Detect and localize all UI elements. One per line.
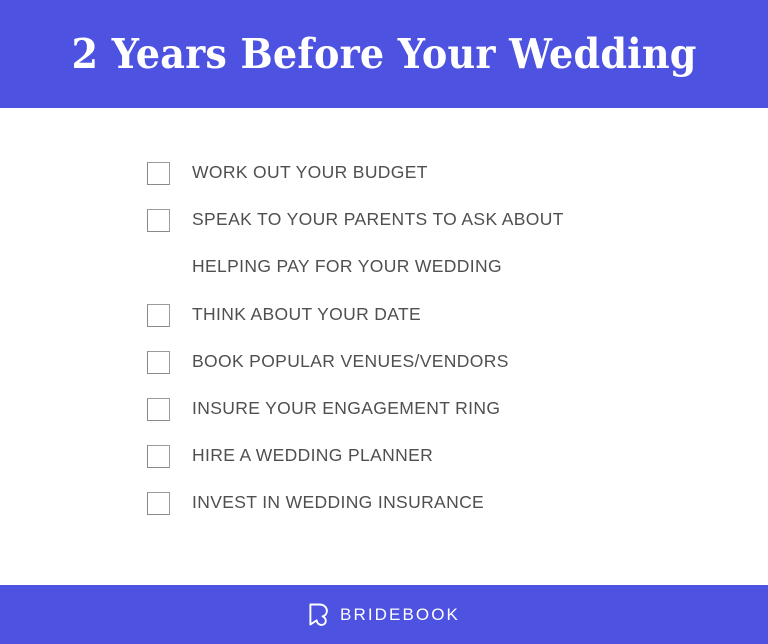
list-item[interactable]: INSURE YOUR ENGAGEMENT RING (147, 396, 667, 443)
checkbox-icon[interactable] (147, 304, 170, 327)
checklist: WORK OUT YOUR BUDGET SPEAK TO YOUR PAREN… (147, 160, 667, 537)
list-item[interactable]: WORK OUT YOUR BUDGET (147, 160, 667, 207)
list-item-label: SPEAK TO YOUR PARENTS TO ASK ABOUT (192, 207, 667, 232)
brand-name: BRIDEBOOK (340, 606, 460, 623)
checkbox-icon[interactable] (147, 162, 170, 185)
page-title: 2 Years Before Your Wedding (71, 34, 696, 75)
list-item-label: WORK OUT YOUR BUDGET (192, 160, 667, 185)
list-item[interactable]: SPEAK TO YOUR PARENTS TO ASK ABOUT (147, 207, 667, 254)
checkbox-icon[interactable] (147, 445, 170, 468)
list-item-label: INSURE YOUR ENGAGEMENT RING (192, 396, 667, 421)
checkbox-icon[interactable] (147, 209, 170, 232)
checkbox-icon[interactable] (147, 351, 170, 374)
list-item[interactable]: HIRE A WEDDING PLANNER (147, 443, 667, 490)
page-header: 2 Years Before Your Wedding (0, 0, 768, 108)
list-item-label: HELPING PAY FOR YOUR WEDDING (192, 254, 667, 279)
checkbox-icon[interactable] (147, 398, 170, 421)
list-item[interactable]: THINK ABOUT YOUR DATE (147, 302, 667, 349)
page-content: WORK OUT YOUR BUDGET SPEAK TO YOUR PAREN… (0, 108, 768, 585)
list-item[interactable]: INVEST IN WEDDING INSURANCE (147, 490, 667, 537)
list-item-label: THINK ABOUT YOUR DATE (192, 302, 667, 327)
list-item[interactable]: BOOK POPULAR VENUES/VENDORS (147, 349, 667, 396)
list-item-label: BOOK POPULAR VENUES/VENDORS (192, 349, 667, 374)
list-item-label: HIRE A WEDDING PLANNER (192, 443, 667, 468)
page-footer: BRIDEBOOK (0, 585, 768, 644)
list-item-continuation: HELPING PAY FOR YOUR WEDDING (147, 254, 667, 302)
bridebook-heart-icon (308, 603, 330, 626)
checkbox-placeholder (147, 256, 170, 279)
list-item-label: INVEST IN WEDDING INSURANCE (192, 490, 667, 515)
checkbox-icon[interactable] (147, 492, 170, 515)
wedding-checklist-page: 2 Years Before Your Wedding WORK OUT YOU… (0, 0, 768, 644)
